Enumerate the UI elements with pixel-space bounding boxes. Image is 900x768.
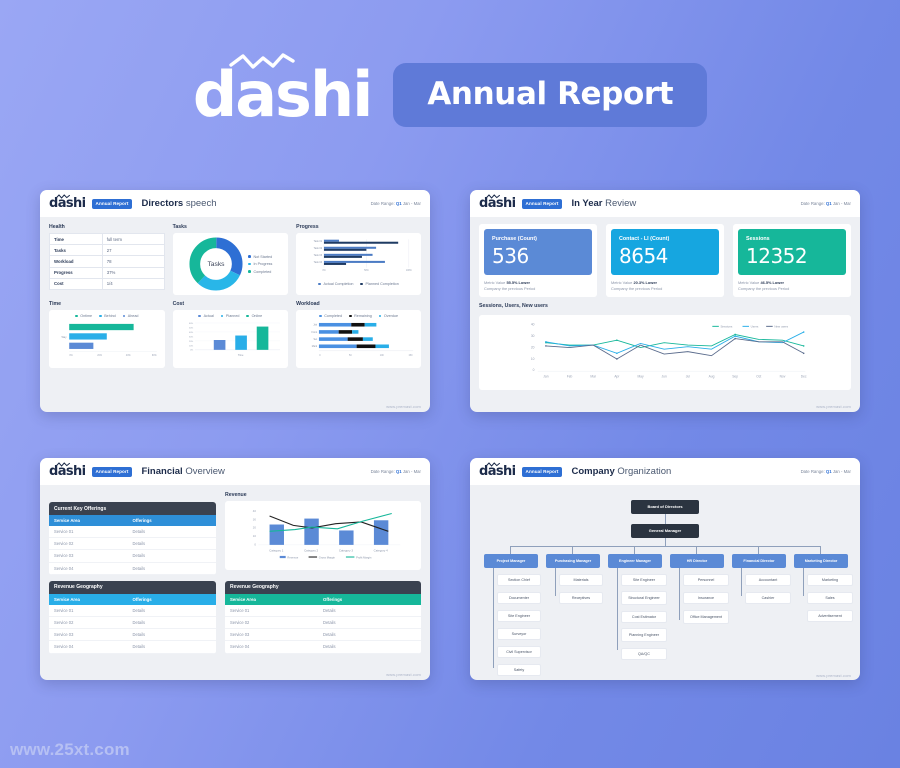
kpi-label: Purchase (Count) [492, 236, 584, 242]
legend-item: Planned [221, 314, 240, 318]
card-header: dashi Annual Report Financial Overview D… [40, 458, 430, 485]
branch-spine [679, 568, 680, 620]
legend-swatch [349, 315, 352, 318]
legend-swatch [248, 263, 251, 266]
table-row: Timefull term [50, 234, 165, 245]
kpi-sub-post: Company the previous Period [484, 286, 535, 291]
svg-text:Way: Way [61, 335, 67, 339]
dashboard-grid: dashi Annual Report Directors speech Dat… [0, 190, 900, 680]
legend-label: Completed [324, 314, 342, 318]
cell-service: Service 02 [54, 620, 132, 625]
legend-item: Behind [99, 314, 116, 318]
svg-text:Apr: Apr [614, 374, 620, 378]
legend-label: Completed [253, 270, 271, 274]
row-key: Time [50, 234, 103, 245]
connector [820, 546, 821, 554]
date-range-period: Jan - Mar [403, 469, 421, 474]
svg-text:Oct: Oct [756, 374, 761, 378]
svg-text:Job: Job [313, 324, 318, 327]
mini-badge: Annual Report [522, 199, 563, 209]
cell-details: Details [323, 620, 416, 625]
connector-bus [510, 546, 821, 547]
health-table: Timefull term Tasks27 Workload78 Progres… [49, 233, 165, 290]
cell-details: Details [132, 541, 210, 546]
connector [634, 546, 635, 554]
card-financial-overview[interactable]: dashi Annual Report Financial Overview D… [40, 458, 430, 680]
legend-swatch [221, 315, 224, 318]
card-watermark: www.premast.com [816, 673, 851, 678]
cell-details: Details [132, 620, 210, 625]
svg-text:New users: New users [774, 324, 788, 328]
legend-item: Completed [248, 270, 272, 274]
table-row[interactable]: Service 02Details [49, 538, 216, 550]
progress-label: Progress [296, 224, 421, 230]
svg-text:10: 10 [253, 534, 257, 538]
mini-badge: Annual Report [92, 199, 133, 209]
logo-text: dashi [193, 64, 372, 126]
legend-label: Online [252, 314, 263, 318]
svg-text:100%: 100% [406, 270, 412, 272]
table-title: Revenue Geography [225, 581, 421, 594]
svg-text:40%: 40% [189, 332, 193, 334]
kpi-value: 12352 [746, 246, 838, 266]
progress-panel: Task 01 Task 02 Task 03 Task 04 [296, 233, 421, 295]
card-watermark: www.premast.com [386, 672, 421, 677]
mini-logo: dashi [49, 465, 86, 478]
table-row: Progress37% [50, 267, 165, 278]
table-row[interactable]: Service 01Details [225, 605, 421, 617]
svg-text:20: 20 [531, 345, 535, 349]
svg-text:20: 20 [253, 526, 257, 530]
mini-badge: Annual Report [92, 467, 133, 477]
kpi-label: Contact - LI (Count) [619, 236, 711, 242]
org-node-child[interactable]: Structural Engineer [621, 591, 667, 605]
org-node-child[interactable]: Materials [559, 574, 603, 586]
svg-text:Mar: Mar [590, 374, 597, 378]
geo-table-left: Revenue Geography Service Area Offerings… [49, 581, 216, 654]
top-row: Health Timefull term Tasks27 Workload78 … [49, 224, 421, 295]
date-range-label: Date Range: [371, 469, 395, 474]
org-node-child[interactable]: Civil Supervisor [497, 646, 541, 658]
svg-text:Mark: Mark [312, 345, 318, 348]
svg-text:Category 2: Category 2 [304, 549, 318, 553]
legend-label: Actual Completion [324, 282, 354, 286]
svg-text:20%: 20% [97, 355, 102, 357]
org-node-child[interactable]: Office Management [683, 610, 729, 624]
org-node-child[interactable]: Site Engineer [497, 610, 541, 622]
svg-text:40%: 40% [126, 355, 131, 357]
svg-text:Jun: Jun [662, 374, 667, 378]
org-node-child[interactable]: Insurance [683, 592, 729, 604]
org-node-child[interactable]: Sales [807, 592, 853, 604]
legend-label: Ontime [80, 314, 92, 318]
revenue-section: Revenue 40 30 20 10 0 [225, 492, 421, 575]
squiggle-icon [56, 462, 70, 467]
svg-text:Dec: Dec [801, 374, 807, 378]
tasks-legend: Not Started In Progress Completed [248, 255, 272, 274]
date-range[interactable]: Date Range: Q1 Jan - Mar [801, 201, 851, 206]
row-key: Progress [50, 267, 103, 278]
column-header: Offerings [132, 518, 210, 523]
kpi-row: Purchase (Count) 536 Metric Value 55.5% … [479, 224, 851, 297]
date-range-label: Date Range: [801, 469, 825, 474]
legend-swatch [379, 315, 382, 318]
org-node-branch-head[interactable]: Marketing Director [794, 554, 848, 568]
branch-spine [493, 568, 494, 668]
svg-text:30%: 30% [189, 336, 193, 338]
trend-panel: 40 30 20 10 0 JanFebMar AprMayJun JulAug… [479, 315, 851, 390]
trend-section: Sessions, Users, New users 40 30 20 10 0… [479, 303, 851, 390]
mini-logo: dashi [49, 197, 86, 210]
legend-label: In Progress [253, 262, 272, 266]
kpi-sub-post: Company the previous Period [738, 286, 789, 291]
date-range-label: Date Range: [371, 201, 395, 206]
column-header: Service Area [230, 597, 323, 602]
svg-text:40: 40 [531, 322, 535, 326]
svg-text:50%: 50% [364, 270, 369, 272]
date-range-quarter: Q1 [396, 201, 402, 206]
bottom-row: Time Ontime Behind Ahead Way [49, 301, 421, 368]
svg-text:100: 100 [380, 355, 385, 357]
kpi-tile: Purchase (Count) 536 [484, 229, 592, 275]
mini-logo: dashi [479, 197, 516, 210]
org-node-child[interactable]: Cashier [745, 592, 791, 604]
svg-text:Set: Set [314, 338, 318, 341]
svg-text:0: 0 [533, 368, 535, 372]
org-node-child[interactable]: Planning Engineer [621, 628, 667, 642]
cell-service: Service 01 [54, 529, 132, 534]
dashi-logo: dashi [193, 64, 372, 126]
date-range-period: Jan - Mar [833, 201, 851, 206]
org-node-child[interactable]: Personnel [683, 574, 729, 586]
health-section: Health Timefull term Tasks27 Workload78 … [49, 224, 165, 295]
table-header: Service Area Offerings [49, 594, 216, 605]
tasks-label: Tasks [173, 224, 289, 230]
table-row: Tasks27 [50, 245, 165, 256]
org-node-child[interactable]: Receptives [559, 592, 603, 604]
svg-text:20%: 20% [189, 341, 193, 343]
legend-item: Remaining [349, 314, 372, 318]
legend-swatch [198, 315, 201, 318]
legend-label: Planned [226, 314, 240, 318]
org-node-child[interactable]: Safety [497, 664, 541, 676]
kpi-sub-bold: 55.5% Lower [506, 280, 530, 285]
table-header: Service Area Offerings [49, 515, 216, 526]
column-header: Service Area [54, 597, 132, 602]
connector [665, 514, 666, 524]
page-title: In Year Review [571, 198, 636, 209]
svg-text:Profit Margin: Profit Margin [356, 555, 372, 559]
title-bold: Directors [141, 198, 183, 209]
kpi-label: Sessions [746, 236, 838, 242]
kpi-subtext: Metric Value 55.5% LowerCompany the prev… [484, 280, 592, 292]
donut-chart: Tasks [188, 236, 244, 292]
table-row[interactable]: Service 03Details [225, 629, 421, 641]
org-node-child[interactable]: Marketing [807, 574, 853, 586]
legend-label: Ahead [128, 314, 139, 318]
legend-swatch [248, 270, 251, 273]
cost-section: Cost Actual Planned Online 60% 50% 40% 3… [173, 301, 289, 368]
cost-label: Cost [173, 301, 289, 307]
branch-spine [617, 568, 618, 650]
org-node-child[interactable]: QA/QC [621, 648, 667, 660]
title-light: Review [605, 198, 636, 209]
svg-text:Front: Front [312, 331, 318, 334]
cell-service: Service 03 [54, 553, 132, 558]
workload-legend: Completed Remaining Overdue [301, 314, 416, 318]
svg-text:Nov: Nov [780, 374, 786, 378]
kpi-tile: Contact - LI (Count) 8654 [611, 229, 719, 275]
svg-text:Category 3: Category 3 [339, 549, 353, 553]
svg-text:Users: Users [751, 324, 759, 328]
table-row[interactable]: Service 03Details [49, 629, 216, 641]
connector [572, 546, 573, 554]
card-header: dashi Annual Report Company Organization… [470, 458, 860, 485]
svg-text:Task 04: Task 04 [314, 261, 323, 264]
branch-spine [803, 568, 804, 596]
donut-center-label: Tasks [208, 261, 226, 268]
card-header: dashi Annual Report Directors speech Dat… [40, 190, 430, 217]
org-node-child[interactable]: Documenter [497, 592, 541, 604]
date-range-period: Jan - Mar [403, 201, 421, 206]
legend-swatch [75, 315, 78, 318]
cell-service: Service 04 [54, 644, 132, 649]
cell-service: Service 02 [230, 620, 323, 625]
org-node-child[interactable]: Cost Estimator [621, 611, 667, 623]
svg-text:Task 02: Task 02 [314, 247, 323, 250]
title-bold: Company [571, 466, 614, 477]
org-node-branch-head[interactable]: Purchasing Manager [546, 554, 600, 568]
page-title: Directors speech [141, 198, 216, 209]
geo-table-right: Revenue Geography Service Area Offerings… [225, 581, 421, 654]
kpi-sub-post: Company the previous Period [611, 286, 662, 291]
row-value: 1/4 [102, 278, 164, 289]
table-row[interactable]: Service 02Details [49, 617, 216, 629]
cost-bar-chart: 60% 50% 40% 30% 20% 10% 0% [178, 320, 284, 360]
svg-text:Sessions: Sessions [720, 324, 732, 328]
squiggle-icon [229, 52, 295, 72]
table-title: Revenue Geography [49, 581, 216, 594]
top-row: Current Key Offerings Service Area Offer… [49, 492, 421, 575]
org-node-child[interactable]: Section Chief [497, 574, 541, 586]
legend-item: Planned Completion [360, 282, 398, 286]
table-row[interactable]: Service 04Details [49, 563, 216, 575]
cell-details: Details [132, 608, 210, 613]
connector [758, 546, 759, 554]
kpi-value: 536 [492, 246, 584, 266]
row-value: 27 [102, 245, 164, 256]
bottom-row: Revenue Geography Service Area Offerings… [49, 581, 421, 654]
svg-text:May: May [637, 374, 644, 378]
legend-item: Actual Completion [318, 282, 353, 286]
cell-service: Service 03 [230, 632, 323, 637]
legend-label: Overdue [384, 314, 398, 318]
page-title: Financial Overview [141, 466, 224, 477]
legend-label: Planned Completion [366, 282, 399, 286]
squiggle-icon [486, 462, 500, 467]
org-node-root[interactable]: Board of Directors [631, 500, 699, 514]
column-header: Service Area [54, 518, 132, 523]
org-node-branch-head[interactable]: HR Director [670, 554, 724, 568]
svg-text:Time: Time [237, 354, 243, 357]
branch-spine [741, 568, 742, 596]
cell-service: Service 04 [230, 644, 323, 649]
svg-text:Sep: Sep [732, 374, 738, 378]
cell-details: Details [323, 608, 416, 613]
connector [510, 546, 511, 554]
svg-text:150: 150 [409, 355, 414, 357]
date-range[interactable]: Date Range: Q1 Jan - Mar [801, 469, 851, 474]
table-row[interactable]: Service 01Details [49, 605, 216, 617]
card-in-year-review[interactable]: dashi Annual Report In Year Review Date … [470, 190, 860, 412]
org-node-child[interactable]: Accountant [745, 574, 791, 586]
kpi-sub-bold: 20.3% Lower [633, 280, 657, 285]
legend-item: Online [246, 314, 262, 318]
table-row[interactable]: Service 04Details [49, 641, 216, 653]
squiggle-icon [56, 194, 70, 199]
legend-item: Not Started [248, 255, 272, 259]
svg-text:10: 10 [531, 357, 535, 361]
progress-legend: Actual Completion Planned Completion [301, 282, 416, 286]
cost-panel: Actual Planned Online 60% 50% 40% 30% 20… [173, 310, 289, 368]
kpi-value: 8654 [619, 246, 711, 266]
workload-panel: Completed Remaining Overdue Job Front Se… [296, 310, 421, 368]
kpi-card[interactable]: Purchase (Count) 536 Metric Value 55.5% … [479, 224, 597, 297]
svg-text:0%: 0% [322, 270, 325, 272]
table-row[interactable]: Service 01Details [49, 526, 216, 538]
card-body: Health Timefull term Tasks27 Workload78 … [40, 217, 430, 412]
org-node-general-manager[interactable]: General Manager [631, 524, 699, 538]
org-node-child[interactable]: Surveyor [497, 628, 541, 640]
date-range-quarter: Q1 [826, 469, 832, 474]
svg-text:Feb: Feb [567, 374, 573, 378]
svg-text:0: 0 [319, 355, 321, 357]
row-key: Cost [50, 278, 103, 289]
kpi-tile: Sessions 12352 [738, 229, 846, 275]
card-body: Board of Directors General Manager Proje… [470, 485, 860, 680]
revenue-combo-chart: 40 30 20 10 0 [230, 505, 416, 561]
date-range-label: Date Range: [801, 201, 825, 206]
workload-label: Workload [296, 301, 421, 307]
table-title: Current Key Offerings [49, 502, 216, 515]
date-range-quarter: Q1 [396, 469, 402, 474]
org-chart: Board of Directors General Manager Proje… [479, 492, 851, 677]
legend-item: Completed [319, 314, 342, 318]
svg-text:Task 01: Task 01 [314, 240, 323, 243]
connector [696, 546, 697, 554]
card-company-organization[interactable]: dashi Annual Report Company Organization… [470, 458, 860, 680]
legend-label: Remaining [354, 314, 372, 318]
tasks-donut-panel: Tasks Not Started In Progress Completed [173, 233, 289, 295]
svg-text:Revenue: Revenue [287, 555, 298, 559]
row-value: full term [102, 234, 164, 245]
workload-stacked-chart: Job Front Set Mark 0 50 100 [301, 320, 416, 360]
date-range-period: Jan - Mar [833, 469, 851, 474]
org-node-branch-head[interactable]: Financial Director [732, 554, 786, 568]
card-header: dashi Annual Report In Year Review Date … [470, 190, 860, 217]
cell-service: Service 03 [54, 632, 132, 637]
org-node-child[interactable]: Advertisement [807, 610, 853, 622]
table-header: Service Area Offerings [225, 594, 421, 605]
kpi-sub-bold: 46.5% Lower [760, 280, 784, 285]
svg-text:Jul: Jul [686, 374, 690, 378]
svg-text:Category 1: Category 1 [269, 549, 283, 553]
kpi-card[interactable]: Contact - LI (Count) 8654 Metric Value 2… [606, 224, 724, 297]
org-node-child[interactable]: Site Engineer [621, 574, 667, 586]
mini-badge: Annual Report [522, 467, 563, 477]
revenue-label: Revenue [225, 492, 421, 498]
table-row[interactable]: Service 03Details [49, 550, 216, 562]
title-bold: Financial [141, 466, 182, 477]
table-row[interactable]: Service 02Details [225, 617, 421, 629]
cell-details: Details [132, 566, 210, 571]
svg-text:0%: 0% [69, 355, 72, 357]
kpi-card[interactable]: Sessions 12352 Metric Value 46.5% LowerC… [733, 224, 851, 297]
legend-swatch [360, 283, 363, 286]
time-panel: Ontime Behind Ahead Way 0% 20% [49, 310, 165, 368]
cell-details: Details [132, 644, 210, 649]
cell-service: Service 01 [230, 608, 323, 613]
health-label: Health [49, 224, 165, 230]
column-header: Offerings [323, 597, 416, 602]
kpi-sub-pre: Metric Value [611, 280, 632, 285]
org-node-branch-head[interactable]: Project Manager [484, 554, 538, 568]
kpi-subtext: Metric Value 46.5% LowerCompany the prev… [738, 280, 846, 292]
page-title: Company Organization [571, 466, 671, 477]
cell-service: Service 04 [54, 566, 132, 571]
title-bold: In Year [571, 198, 602, 209]
svg-text:60%: 60% [189, 323, 193, 325]
table-row: Workload78 [50, 256, 165, 267]
time-label: Time [49, 301, 165, 307]
title-light: Overview [185, 466, 225, 477]
offerings-table: Current Key Offerings Service Area Offer… [49, 502, 216, 575]
legend-item: In Progress [248, 262, 272, 266]
card-directors-speech[interactable]: dashi Annual Report Directors speech Dat… [40, 190, 430, 412]
legend-item: Ahead [123, 314, 139, 318]
progress-bar-chart: Task 01 Task 02 Task 03 Task 04 [301, 237, 416, 277]
svg-text:0%: 0% [190, 350, 193, 352]
date-range[interactable]: Date Range: Q1 Jan - Mar [371, 201, 421, 206]
title-light: Organization [617, 466, 671, 477]
svg-text:Aug: Aug [709, 374, 715, 378]
svg-text:30: 30 [253, 517, 257, 521]
trend-line-chart: 40 30 20 10 0 JanFebMar AprMayJun JulAug… [484, 319, 846, 381]
legend-swatch [123, 315, 126, 318]
title-light: speech [186, 198, 217, 209]
org-node-branch-head[interactable]: Engineer Manager [608, 554, 662, 568]
kpi-subtext: Metric Value 20.3% LowerCompany the prev… [611, 280, 719, 292]
masthead: dashi Annual Report [0, 0, 900, 190]
row-value: 78 [102, 256, 164, 267]
svg-text:50%: 50% [189, 327, 193, 329]
time-section: Time Ontime Behind Ahead Way [49, 301, 165, 368]
legend-label: Actual [204, 314, 214, 318]
time-legend: Ontime Behind Ahead [54, 314, 160, 318]
tasks-section: Tasks Tasks Not Started In Progress Comp… [173, 224, 289, 295]
date-range[interactable]: Date Range: Q1 Jan - Mar [371, 469, 421, 474]
table-row[interactable]: Service 04Details [225, 641, 421, 653]
date-range-quarter: Q1 [826, 201, 832, 206]
annual-report-badge: Annual Report [393, 63, 707, 127]
card-body: Purchase (Count) 536 Metric Value 55.5% … [470, 217, 860, 412]
progress-section: Progress Task 01 Task 02 Task [296, 224, 421, 295]
card-watermark: www.premast.com [816, 404, 851, 409]
cell-details: Details [132, 529, 210, 534]
legend-swatch [99, 315, 102, 318]
legend-swatch [318, 283, 321, 286]
kpi-sub-pre: Metric Value [484, 280, 505, 285]
